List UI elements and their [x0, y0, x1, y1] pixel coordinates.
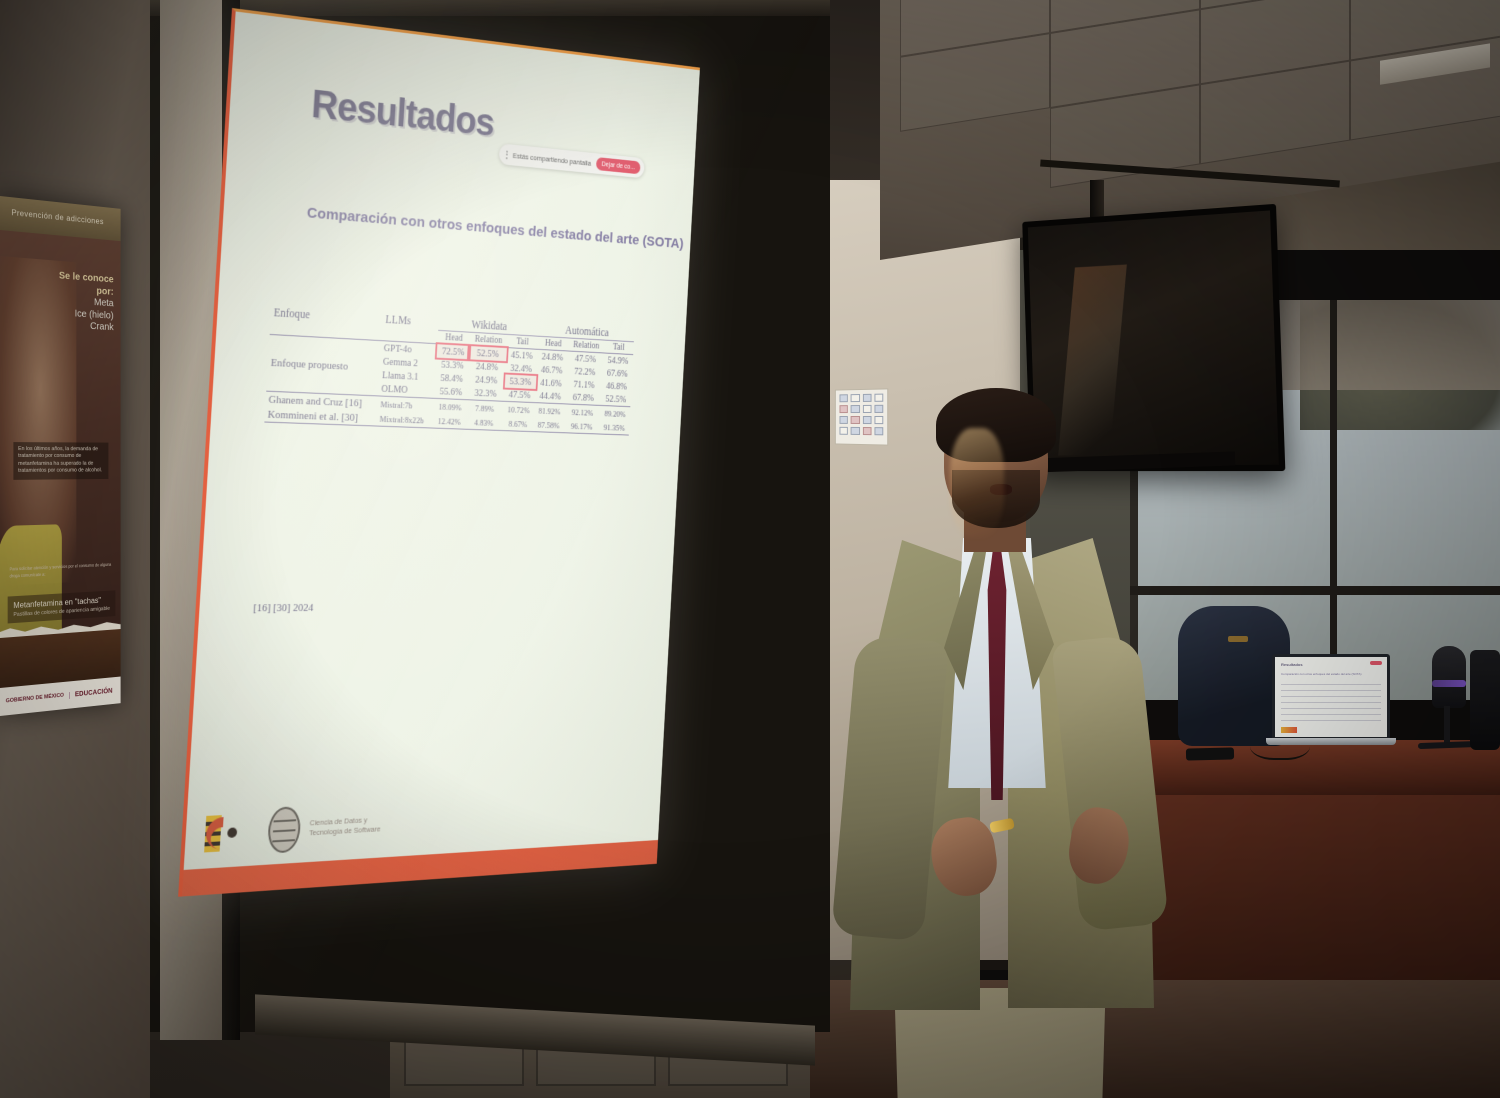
slide-title: Resultados [310, 82, 495, 145]
poster-heading: Se le conoce por: Meta Ice (hielo) Crank [40, 269, 114, 334]
cell-automatica-relation: 96.17% [564, 418, 600, 434]
ecd-logo [202, 807, 260, 859]
cell-wikidata-head: 18.09% [434, 398, 467, 414]
cell-llm: Mixtral:8x22b [377, 411, 434, 428]
speaker-box [1470, 650, 1500, 750]
cell-automatica-tail: 91.35% [599, 420, 630, 435]
projector-light-on-face [950, 428, 1004, 538]
poster-callout: Metanfetamina en "tachas" Pastillas de c… [8, 590, 116, 623]
results-table: Enfoque LLMs Wikidata Automática Head Re… [264, 305, 634, 435]
backpack-tag [1228, 636, 1248, 642]
logo-caption: Ciencia de Datos y Tecnología de Softwar… [309, 814, 382, 839]
database-icon [267, 806, 302, 854]
cell-automatica-relation: 92.12% [564, 404, 600, 420]
microphone-stand [1444, 706, 1450, 746]
slide-footer: Ciencia de Datos y Tecnología de Softwar… [202, 801, 382, 859]
screen-share-notification: Estás compartiendo pantalla Dejar de co.… [499, 143, 645, 178]
window-mullion [1330, 300, 1337, 700]
educacion-logo: EDUCACIÓN [69, 687, 112, 698]
addiction-prevention-poster: Prevención de adicciones Se le conoce po… [0, 196, 121, 716]
poster-quote: En los últimos años, la demanda de trata… [13, 442, 108, 479]
cell-wikidata-head: 12.42% [433, 413, 466, 429]
cell-automatica-head: 44.4% [535, 389, 566, 404]
cell-automatica-head: 81.92% [534, 403, 565, 419]
cell-wikidata-tail: 8.67% [502, 416, 534, 432]
window-rail [1130, 586, 1500, 595]
cell-approach: Kommineni et al. [30] [264, 407, 377, 426]
smartphone[interactable] [1186, 747, 1234, 760]
presenter [840, 388, 1170, 1098]
cell-wikidata-relation: 4.83% [465, 414, 503, 430]
laptop-slide-subtitle: Comparación con otros enfoques del estad… [1281, 672, 1362, 676]
cell-wikidata-head: 55.6% [434, 384, 467, 399]
cell-wikidata-tail: 47.5% [504, 388, 536, 403]
cell-automatica-tail: 89.20% [600, 405, 630, 420]
slide-subtitle: Comparación con otros enfoques del estad… [306, 205, 684, 253]
slide-canvas: Resultados Estás compartiendo pantalla D… [178, 8, 700, 897]
cell-wikidata-tail: 10.72% [503, 401, 535, 417]
laptop-slide-table [1281, 684, 1381, 722]
share-notice-text: Estás compartiendo pantalla [513, 151, 592, 167]
presentation-room-scene: Prevención de adicciones Se le conoce po… [0, 0, 1500, 1098]
microphone-led-ring [1432, 680, 1466, 687]
laptop-slide-title: Resultados [1281, 662, 1303, 667]
stop-sharing-button[interactable]: Dejar de co... [596, 157, 641, 174]
cell-automatica-head: 87.58% [533, 417, 564, 433]
row-group-label-enfoque-propuesto: Enfoque propuesto [266, 334, 381, 395]
slide-footnote: [16] [30] 2024 [253, 602, 314, 614]
condenser-microphone [1432, 646, 1466, 708]
drag-handle-icon[interactable] [506, 150, 508, 159]
cell-automatica-tail: 52.5% [601, 392, 631, 407]
power-cable [1250, 726, 1310, 760]
projection-glare [182, 11, 700, 896]
projected-slide: Resultados Estás compartiendo pantalla D… [178, 8, 700, 897]
gobierno-de-mexico-logo: GOBIERNO DE MÉXICO [6, 693, 64, 705]
cell-wikidata-relation: 7.89% [466, 400, 504, 416]
laptop-share-badge [1370, 661, 1382, 665]
